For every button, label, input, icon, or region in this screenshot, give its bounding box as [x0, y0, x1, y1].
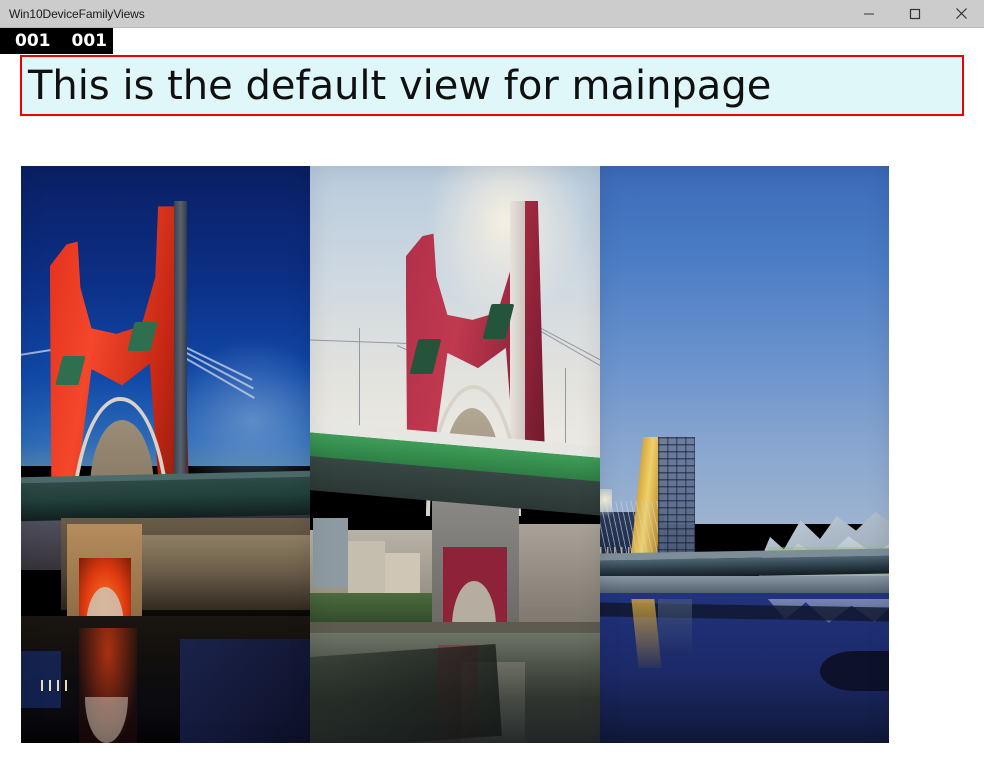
embankment-lights [142, 535, 310, 616]
water-dark-shape [820, 651, 889, 691]
minimize-button[interactable] [846, 0, 892, 28]
city-building [348, 541, 386, 599]
maximize-icon [909, 8, 921, 20]
city-building [313, 518, 348, 587]
gallery-image-la-salve-bridge-day[interactable] [310, 166, 600, 743]
gallery-image-la-salve-bridge-night[interactable] [21, 166, 310, 743]
water-light-specks [41, 680, 70, 692]
right-building [519, 524, 600, 628]
steel-scaffold-grid [658, 437, 696, 564]
water-reflection-deck [310, 644, 501, 743]
water-reflection-sky [180, 639, 310, 743]
close-icon [955, 7, 968, 20]
maximize-button[interactable] [892, 0, 938, 28]
tower-white-edge [510, 201, 525, 461]
bridge-lamp-glow [600, 489, 612, 524]
street-lamp [359, 328, 360, 432]
close-button[interactable] [938, 0, 984, 28]
street-lamp [565, 368, 566, 443]
window-title-bar[interactable]: Win10DeviceFamilyViews [0, 0, 984, 28]
page-title: This is the default view for mainpage [22, 65, 771, 107]
window-title: Win10DeviceFamilyViews [0, 7, 145, 21]
counter-strip: 001 001 [0, 28, 113, 54]
water-reflection-scaffold [658, 599, 693, 657]
image-gallery [21, 166, 889, 743]
quay-wall [600, 576, 889, 593]
bridge-mast [174, 201, 187, 501]
counter-value-first: 001 [15, 33, 51, 50]
default-view-header-box: This is the default view for mainpage [20, 55, 964, 116]
window-controls [846, 0, 984, 28]
gallery-image-guggenheim-bilbao-dusk[interactable] [600, 166, 889, 743]
minimize-icon [863, 8, 875, 20]
bridge-deck [21, 477, 310, 521]
counter-value-second: 001 [72, 33, 108, 50]
